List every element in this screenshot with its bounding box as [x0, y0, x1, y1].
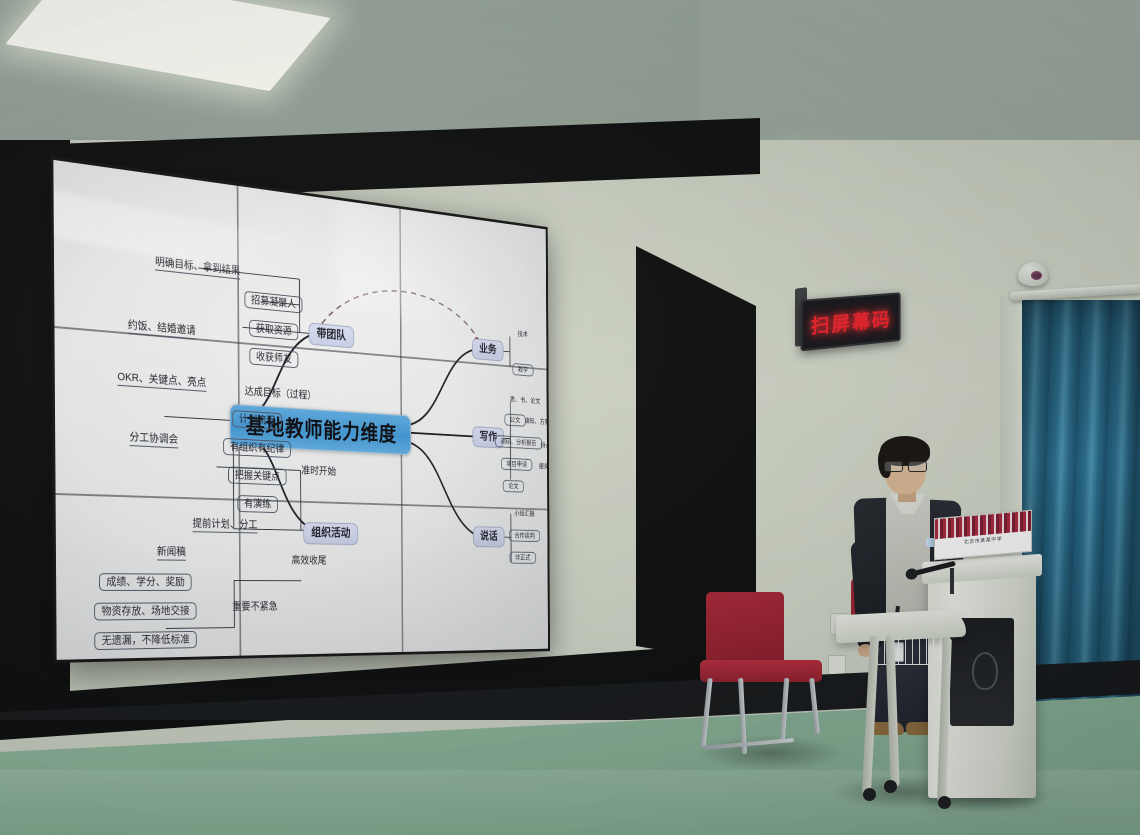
branch-node-reach-goal[interactable]: 达成目标（过程）: [245, 386, 316, 402]
branch-node-business[interactable]: 业务: [472, 338, 503, 361]
leaf-material-venue-handover: 物资存放、场地交接: [94, 602, 197, 620]
leaf-get-resources: 获取资源: [249, 319, 298, 340]
leaf-thesis: 论文: [503, 480, 524, 493]
chair-leg-3: [780, 678, 789, 740]
leaf-grade-credit-award: 成绩、学分、奖励: [99, 573, 192, 591]
leaf-clear-goal: 明确目标、拿到结果: [155, 256, 240, 280]
leaf-important-not-urgent: 重要不紧急: [232, 601, 277, 613]
chair-leg-1: [700, 678, 712, 748]
red-chair-front[interactable]: [700, 592, 828, 757]
leaf-group-report: 小组汇报: [514, 510, 534, 518]
chair-front-backrest: [706, 592, 784, 664]
leaf-start-on-time: 准时开始: [301, 465, 336, 478]
leaf-meal-wedding-invite: 约饭、结婚邀请: [128, 319, 196, 340]
leaf-project-application: 项目申请: [501, 458, 532, 472]
table-wire-basket: [870, 638, 946, 665]
dome-camera-icon: [1018, 262, 1048, 286]
leaf-news-release: 新闻稿: [157, 546, 186, 561]
rolling-table[interactable]: [836, 612, 966, 802]
leaf-grasp-key-points: 把握关键点: [228, 466, 287, 485]
table-caster-3: [938, 796, 951, 809]
led-sign-text: 扫屏幕码: [803, 294, 899, 349]
leaf-research-analysis-report: 调研、分析报告: [495, 435, 542, 450]
leaf-technology: 技术: [518, 330, 528, 338]
mindmap: 基地教师能力维度 带团队 明确目标、拿到结果 招募凝聚人 获取资源 收获师友 约…: [53, 160, 548, 660]
leaf-plan-process: 计划流程: [232, 410, 282, 430]
leaf-okr-keypoint-highlight: OKR、关键点、亮点: [117, 371, 206, 392]
table-caster-1: [863, 788, 876, 801]
video-wall-screen: 基地教师能力维度 带团队 明确目标、拿到结果 招募凝聚人 获取资源 收获师友 约…: [53, 160, 548, 660]
video-wall-display[interactable]: 基地教师能力维度 带团队 明确目标、拿到结果 招募凝聚人 获取资源 收获师友 约…: [53, 160, 548, 660]
leaf-cooperation-negotiation: 合作谈判: [509, 529, 540, 542]
leaf-official-document: 公文: [504, 413, 525, 426]
leaf-form-book-thesis: 表、书、论文: [510, 396, 540, 405]
podium-emblem-icon: [972, 652, 998, 690]
leaf-organized-disciplined: 有组织有纪律: [223, 438, 291, 458]
branch-node-lead-team[interactable]: 带团队: [309, 322, 354, 348]
leaf-recruit-people: 招募凝聚人: [244, 291, 302, 314]
microphone-stand: [950, 568, 954, 594]
table-leg-1: [862, 636, 879, 794]
leaf-award-title-topic: 报奖、头衔课题: [539, 463, 548, 472]
shirt: [886, 496, 930, 616]
leaf-teaching: 教学: [512, 363, 533, 377]
chair-front-seat: [700, 660, 822, 682]
leaf-plan-ahead-divide: 提前计划、分工: [193, 518, 258, 534]
leaf-efficient-wrapup: 高效收尾: [291, 555, 326, 566]
glasses-icon: [884, 461, 927, 470]
branch-node-speaking[interactable]: 说话: [473, 526, 504, 547]
camera-lens-icon: [1031, 271, 1042, 280]
leaf-no-omission-no-lower-standard: 无遗漏，不降低标准: [94, 631, 196, 650]
chair-leg-4: [809, 678, 820, 734]
leaf-informal: 非正式: [510, 552, 536, 564]
leaf-gain-mentors: 收获师友: [249, 348, 298, 369]
branch-node-organize-activity[interactable]: 组织活动: [303, 522, 358, 545]
lecture-hall-photo: 基地教师能力维度 带团队 明确目标、拿到结果 招募凝聚人 获取资源 收获师友 约…: [0, 0, 1140, 835]
podium-sign: 北京市某某中学: [934, 510, 1032, 561]
chair-leg-rail: [702, 738, 794, 750]
leaf-rehearsal: 有演练: [237, 495, 277, 513]
leaf-notice-plan-system-summary: 通知、方案、制度、总结: [524, 417, 548, 427]
table-caster-2: [884, 780, 897, 793]
leaf-division-coordination-meeting: 分工协调会: [129, 431, 178, 448]
